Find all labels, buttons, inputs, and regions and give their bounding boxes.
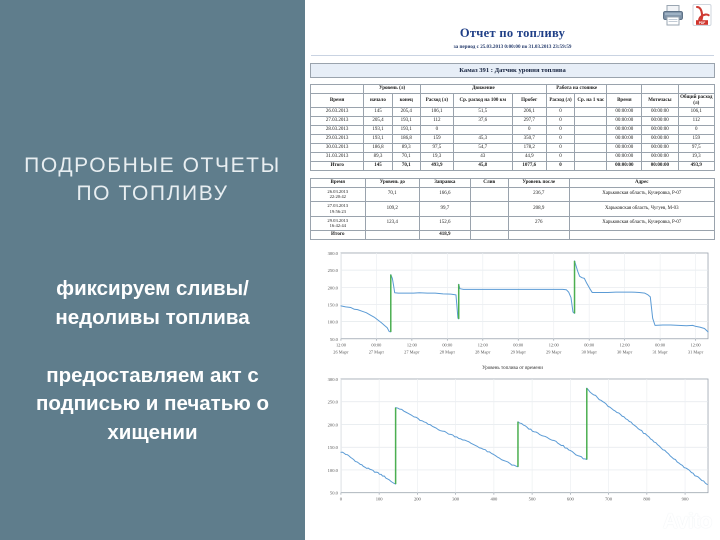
table-cell: [365, 230, 420, 239]
fuel-level-index-chart-svg: 50.0100.0150.0200.0250.0300.001002003004…: [311, 375, 714, 507]
chart-2-ytick: 50.0: [330, 490, 339, 495]
table-cell: Харьковская область, Кучеровка, Р-07: [569, 216, 714, 230]
table-cell: 00:00:00: [607, 144, 642, 153]
chart-2-xtick: 500: [529, 496, 537, 501]
table-cell: 0: [420, 126, 453, 135]
table-cell: 00:00:00: [607, 161, 642, 170]
table-cell: 205,4: [364, 117, 392, 126]
avito-watermark-text: Avito: [663, 510, 712, 534]
table-cell: 186,8: [364, 144, 392, 153]
table-cell: 30.03.2013: [311, 144, 364, 153]
chart-1-xtick-time: 00:00: [442, 343, 453, 348]
chart-1-xtick-time: 00:00: [655, 343, 666, 348]
chart-1-xtick-time: 12:00: [407, 343, 418, 348]
table-cell: 0: [546, 108, 574, 117]
promo-benefit-2: предоставляем акт с подписью и печатью о…: [15, 362, 291, 447]
chart-1-ytick: 300.0: [328, 251, 339, 256]
table-cell: 193,1: [392, 126, 420, 135]
chart-1-xtick-day: 27 Март: [369, 350, 384, 355]
chart-2-xtick: 400: [490, 496, 498, 501]
table-cell: 0: [512, 126, 546, 135]
main-table-column-header: Расход (л): [420, 93, 453, 108]
table-cell: 97,5: [678, 144, 714, 153]
device-bar-row: Камаз 391 : Датчик уровня топлива: [311, 64, 715, 78]
promo-panel: ПОДРОБНЫЕ ОТЧЕТЫ ПО ТОПЛИВУ фиксируем сл…: [0, 0, 305, 540]
table-cell: 70,1: [365, 187, 420, 201]
table-cell: 27.03.201319:56:23: [311, 202, 366, 216]
main-table-column-header: Ср. на 1 час: [575, 93, 607, 108]
table-total-row: Итого14570,1493,945,81077,6000:00:0000:0…: [311, 161, 715, 170]
table-cell: 418,9: [420, 230, 471, 239]
chart-1-xtick-day: 29 Март: [511, 350, 526, 355]
table-cell: 106,1: [678, 108, 714, 117]
table-cell: [575, 126, 607, 135]
fuel-events-table: ВремяУровень доЗаправкаСливУровень после…: [310, 178, 715, 240]
table-cell: 109,2: [365, 202, 420, 216]
table-cell: [569, 230, 714, 239]
chart-2-ytick: 100.0: [328, 468, 339, 473]
chart-1-xlabel: Уровень топлива от времени: [311, 366, 714, 371]
table-cell: 493,9: [420, 161, 453, 170]
table-cell: 19,3: [678, 152, 714, 161]
table-cell: 0: [546, 117, 574, 126]
device-bar-label: Камаз 391 : Датчик уровня топлива: [311, 64, 715, 78]
chart-2-xtick: 300: [452, 496, 460, 501]
chart-2-xtick: 700: [605, 496, 613, 501]
table-cell: 00:00:00: [642, 135, 678, 144]
main-table-group-header-row: Уровень (л)ДвижениеРабота на стоянке: [311, 84, 715, 93]
table-cell: 54,7: [453, 144, 512, 153]
table-cell: [575, 144, 607, 153]
table-cell: 89,3: [392, 144, 420, 153]
table-row: 27.03.2013205,4193,111237,6297,7000:00:0…: [311, 117, 715, 126]
table-cell: 99,7: [420, 202, 471, 216]
main-table-body: 26.03.2013145205,4106,151,5206,1000:00:0…: [311, 108, 715, 170]
chart-1-xtick-time: 12:00: [549, 343, 560, 348]
table-cell: Итого: [311, 161, 364, 170]
table-cell: [470, 187, 508, 201]
table-cell: 297,7: [512, 117, 546, 126]
table-cell: [508, 230, 569, 239]
table-row: 26.03.2013145205,4106,151,5206,1000:00:0…: [311, 108, 715, 117]
main-table-column-header: Время: [607, 93, 642, 108]
table-cell: 19,3: [420, 152, 453, 161]
table-cell: 145: [364, 161, 392, 170]
chart-1-xtick-day: 28 Март: [440, 350, 455, 355]
table-cell: 45,8: [453, 161, 512, 170]
table-cell: 00:00:00: [642, 117, 678, 126]
chart-2-xtick: 900: [682, 496, 690, 501]
table-cell: [470, 216, 508, 230]
chart-1-xtick-time: 00:00: [513, 343, 524, 348]
table-row: 29.03.2013193,1186,815945,3350,7000:00:0…: [311, 135, 715, 144]
table-cell: 493,9: [678, 161, 714, 170]
chart-2-ytick: 150.0: [328, 445, 339, 450]
table-cell: [575, 152, 607, 161]
table-cell: 29.03.2013: [311, 135, 364, 144]
table-cell: 97,5: [420, 144, 453, 153]
table-cell: 37,6: [453, 117, 512, 126]
table-cell: 00:00:00: [642, 126, 678, 135]
table-cell: 106,1: [420, 108, 453, 117]
table-cell: 00:00:00: [642, 161, 678, 170]
table-cell: 159: [678, 135, 714, 144]
chart-1-xtick-time: 12:00: [620, 343, 631, 348]
table-cell: 166,6: [420, 187, 471, 201]
events-table-column-header-row: ВремяУровень доЗаправкаСливУровень после…: [311, 178, 715, 187]
table-cell: 112: [678, 117, 714, 126]
main-table-group-header-0: [311, 84, 364, 93]
events-table-column-header: Время: [311, 178, 366, 187]
table-cell: 00:00:00: [642, 152, 678, 161]
table-cell: 00:00:00: [607, 135, 642, 144]
table-cell: 00:00:00: [642, 144, 678, 153]
chart-2-ytick: 300.0: [328, 377, 339, 382]
table-cell: 0: [546, 161, 574, 170]
events-table-column-header: Слив: [470, 178, 508, 187]
main-table-column-header: Время: [311, 93, 364, 108]
table-cell: 26.03.2013: [311, 108, 364, 117]
chart-1-xtick-time: 12:00: [478, 343, 489, 348]
table-cell: 276: [508, 216, 569, 230]
table-cell: 31.03.2013: [311, 152, 364, 161]
chart-1-xtick-day: 26 Март: [333, 350, 348, 355]
table-cell: 0: [546, 152, 574, 161]
page-title: Отчет по топливу: [305, 26, 720, 41]
chart-1-xtick-time: 12:00: [691, 343, 702, 348]
report-toolbar: PDF: [661, 3, 714, 27]
table-cell: 43: [453, 152, 512, 161]
main-table-group-header-4: [607, 84, 642, 93]
pdf-export-icon[interactable]: PDF: [690, 3, 714, 27]
table-cell: 208,9: [508, 202, 569, 216]
chart-1-xtick-day: 30 Март: [582, 350, 597, 355]
table-cell: 44,9: [512, 152, 546, 161]
table-cell: 00:00:00: [607, 117, 642, 126]
chart-2-xtick: 0: [340, 496, 343, 501]
table-cell: 29.03.201316:42:44: [311, 216, 366, 230]
promo-heading: ПОДРОБНЫЕ ОТЧЕТЫ ПО ТОПЛИВУ: [13, 152, 293, 207]
table-cell: Харьковская область, Кучеровка, Р-07: [569, 187, 714, 201]
main-table-column-header: Расход (л): [546, 93, 574, 108]
table-cell: 45,3: [453, 135, 512, 144]
chart-2-xtick: 600: [567, 496, 575, 501]
table-cell: 178,2: [512, 144, 546, 153]
table-cell: 205,4: [392, 108, 420, 117]
table-cell: [575, 135, 607, 144]
chart-1-ytick: 50.0: [330, 337, 339, 342]
main-table-group-header-3: Работа на стоянке: [546, 84, 607, 93]
table-cell: 1077,6: [512, 161, 546, 170]
table-cell: [470, 230, 508, 239]
table-cell: 28.03.2013: [311, 126, 364, 135]
table-cell: 00:00:00: [607, 108, 642, 117]
main-table-column-header: Общий расход (л): [678, 93, 714, 108]
table-cell: Итого: [311, 230, 366, 239]
events-table-column-header: Адрес: [569, 178, 714, 187]
table-cell: 27.03.2013: [311, 117, 364, 126]
table-cell: 0: [546, 144, 574, 153]
main-table-group-header-5: [642, 84, 678, 93]
printer-icon[interactable]: [661, 3, 685, 27]
table-row: 27.03.201319:56:23109,299,7208,9Харьковс…: [311, 202, 715, 216]
table-cell: 152,6: [420, 216, 471, 230]
report-period: за период с 25.03.2013 0:00:00 по 31.03.…: [305, 44, 720, 50]
table-cell: 145: [364, 108, 392, 117]
chart-1-ytick: 150.0: [328, 302, 339, 307]
events-table-body: 26.03.201322:20:4270,1166,6236,7Харьковс…: [311, 187, 715, 239]
chart-1-xtick-day: 31 Март: [652, 350, 667, 355]
table-cell: 206,1: [512, 108, 546, 117]
chart-1-ytick: 200.0: [328, 285, 339, 290]
device-header-table: Камаз 391 : Датчик уровня топлива: [310, 63, 715, 78]
chart-1-xtick-time: 00:00: [371, 343, 382, 348]
table-cell: 89,3: [364, 152, 392, 161]
table-cell: Харьковская область, Чугуев, М-03: [569, 202, 714, 216]
main-table-head: Уровень (л)ДвижениеРабота на стоянке Вре…: [311, 84, 715, 108]
table-total-row: Итого418,9: [311, 230, 715, 239]
chart-1-xtick-day: 28 Март: [475, 350, 490, 355]
chart-1-xtick-time: 12:00: [336, 343, 347, 348]
avito-logo-icon: [638, 511, 660, 533]
chart-1-xtick-day: 31 Март: [688, 350, 703, 355]
events-table-column-header: Заправка: [420, 178, 471, 187]
table-cell: 70,1: [392, 152, 420, 161]
report-sheet: PDF Отчет по топливу за период с 25.03.2…: [305, 0, 720, 540]
table-cell: 350,7: [512, 135, 546, 144]
table-row: 28.03.2013193,1193,100000:00:0000:00:000: [311, 126, 715, 135]
main-table-column-header: конец: [392, 93, 420, 108]
main-table-column-header: Ср. расход на 100 км: [453, 93, 512, 108]
report-title-block: Отчет по топливу за период с 25.03.2013 …: [305, 0, 720, 50]
table-row: 29.03.201316:42:44123,4152,6276Харьковск…: [311, 216, 715, 230]
chart-2-xtick: 100: [376, 496, 384, 501]
table-cell: 123,4: [365, 216, 420, 230]
promo-benefit-1: фиксируем сливы/ недоливы топлива: [17, 275, 289, 332]
table-cell: 51,5: [453, 108, 512, 117]
chart-1-xtick-day: 27 Март: [404, 350, 419, 355]
chart-1-xtick-day: 30 Март: [617, 350, 632, 355]
events-table-column-header: Уровень до: [365, 178, 420, 187]
fuel-level-index-chart: 50.0100.0150.0200.0250.0300.001002003004…: [311, 375, 714, 507]
table-row: 26.03.201322:20:4270,1166,6236,7Харьковс…: [311, 187, 715, 201]
main-table-column-header: Моточасы: [642, 93, 678, 108]
table-cell: [453, 126, 512, 135]
chart-1-xtick-day: 29 Март: [546, 350, 561, 355]
table-cell: 236,7: [508, 187, 569, 201]
main-table-group-header-2: Движение: [420, 84, 546, 93]
table-cell: 193,1: [364, 126, 392, 135]
main-table-column-header: Пробег: [512, 93, 546, 108]
chart-2-xtick: 200: [414, 496, 422, 501]
main-table-column-header: начало: [364, 93, 392, 108]
table-cell: [575, 108, 607, 117]
main-table-wrap: Камаз 391 : Датчик уровня топлива: [305, 63, 720, 78]
main-table-column-header-row: ВремяначалоконецРасход (л)Ср. расход на …: [311, 93, 715, 108]
table-cell: 0: [546, 126, 574, 135]
pdf-icon-label: PDF: [699, 21, 706, 25]
table-cell: 112: [420, 117, 453, 126]
main-table-group-header-6: [678, 84, 714, 93]
table-cell: [575, 117, 607, 126]
table-cell: 193,1: [364, 135, 392, 144]
fuel-level-time-chart: 50.0100.0150.0200.0250.0300.012:0026 Мар…: [311, 249, 714, 371]
title-divider: [311, 55, 714, 56]
table-cell: 70,1: [392, 161, 420, 170]
table-cell: 0: [546, 135, 574, 144]
table-cell: [575, 161, 607, 170]
chart-2-xtick: 800: [643, 496, 651, 501]
table-cell: 159: [420, 135, 453, 144]
table-row: 31.03.201389,370,119,34344,9000:00:0000:…: [311, 152, 715, 161]
chart-2-ytick: 250.0: [328, 399, 339, 404]
fuel-level-time-chart-svg: 50.0100.0150.0200.0250.0300.012:0026 Мар…: [311, 249, 714, 365]
chart-1-ytick: 250.0: [328, 268, 339, 273]
events-table-column-header: Уровень после: [508, 178, 569, 187]
table-cell: 00:00:00: [607, 126, 642, 135]
table-cell: 193,1: [392, 117, 420, 126]
table-cell: 00:00:00: [642, 108, 678, 117]
chart-2-ytick: 200.0: [328, 422, 339, 427]
events-table-head: ВремяУровень доЗаправкаСливУровень после…: [311, 178, 715, 187]
table-cell: 186,8: [392, 135, 420, 144]
table-cell: [470, 202, 508, 216]
fuel-summary-table: Уровень (л)ДвижениеРабота на стоянке Вре…: [310, 84, 715, 171]
table-cell: 00:00:00: [607, 152, 642, 161]
chart-1-ytick: 100.0: [328, 319, 339, 324]
table-cell: 0: [678, 126, 714, 135]
table-row: 30.03.2013186,889,397,554,7178,2000:00:0…: [311, 144, 715, 153]
avito-watermark: Avito: [638, 510, 712, 534]
table-cell: 26.03.201322:20:42: [311, 187, 366, 201]
main-table-group-header-1: Уровень (л): [364, 84, 421, 93]
chart-1-xtick-time: 00:00: [584, 343, 595, 348]
